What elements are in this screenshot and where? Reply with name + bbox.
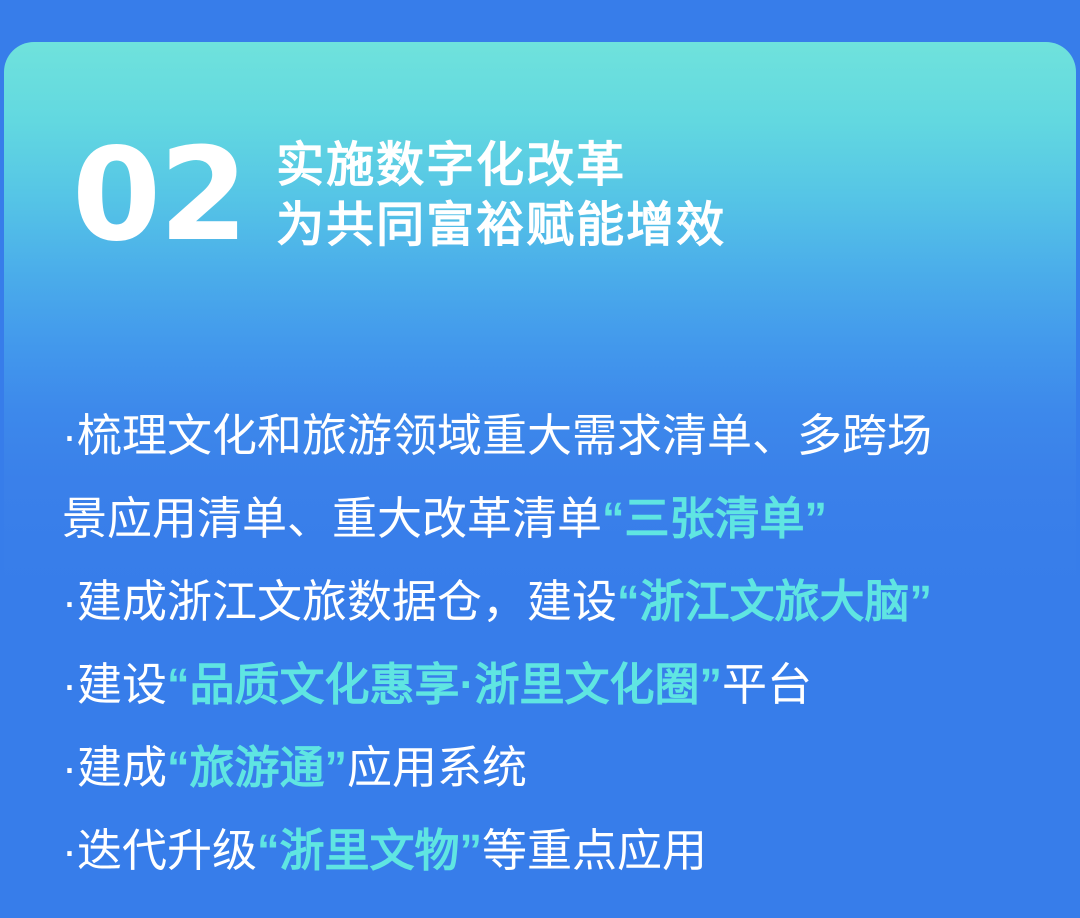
body-text: 建设 (77, 659, 167, 710)
body-text: 梳理文化和旅游领域重大需求清单、多跨场 (77, 410, 932, 461)
highlighted-term: “三张清单” (602, 493, 827, 544)
bullet-dot-icon: · (62, 410, 77, 461)
header-title-group: 实施数字化改革 为共同富裕赋能增效 (276, 136, 726, 255)
header-title-line-2: 为共同富裕赋能增效 (276, 196, 726, 256)
bullet-line: 景应用清单、重大改革清单“三张清单” (62, 477, 1036, 560)
poster-root: 02 实施数字化改革 为共同富裕赋能增效 ·梳理文化和旅游领域重大需求清单、多跨… (0, 0, 1080, 918)
body-text: 迭代升级 (77, 825, 257, 876)
bullet-line: ·迭代升级“浙里文物”等重点应用 (62, 809, 1036, 892)
bullet-line: ·建设“品质文化惠享·浙里文化圈”平台 (62, 643, 1036, 726)
body-text: 建成 (77, 742, 167, 793)
gradient-card: 02 实施数字化改革 为共同富裕赋能增效 ·梳理文化和旅游领域重大需求清单、多跨… (4, 42, 1076, 918)
bullet-line: ·建成“旅游通”应用系统 (62, 726, 1036, 809)
bullet-list: ·梳理文化和旅游领域重大需求清单、多跨场景应用清单、重大改革清单“三张清单”·建… (62, 394, 1036, 892)
bullet-dot-icon: · (62, 659, 77, 710)
body-text: 等重点应用 (482, 825, 707, 876)
header: 02 实施数字化改革 为共同富裕赋能增效 (72, 128, 726, 260)
body-text: 平台 (722, 659, 812, 710)
highlighted-term: “浙里文物” (257, 825, 482, 876)
bullet-line: ·建成浙江文旅数据仓，建设“浙江文旅大脑” (62, 560, 1036, 643)
bullet-dot-icon: · (62, 576, 77, 627)
highlighted-term: “旅游通” (167, 742, 347, 793)
body-text: 建成浙江文旅数据仓，建设 (77, 576, 617, 627)
bullet-line: ·梳理文化和旅游领域重大需求清单、多跨场 (62, 394, 1036, 477)
highlighted-term: “浙江文旅大脑” (617, 576, 932, 627)
bullet-dot-icon: · (62, 825, 77, 876)
body-text: 应用系统 (347, 742, 527, 793)
body-text: 景应用清单、重大改革清单 (62, 493, 602, 544)
bullet-dot-icon: · (62, 742, 77, 793)
section-number: 02 (72, 132, 246, 260)
header-title-line-1: 实施数字化改革 (276, 136, 726, 196)
highlighted-term: “品质文化惠享·浙里文化圈” (167, 659, 722, 710)
